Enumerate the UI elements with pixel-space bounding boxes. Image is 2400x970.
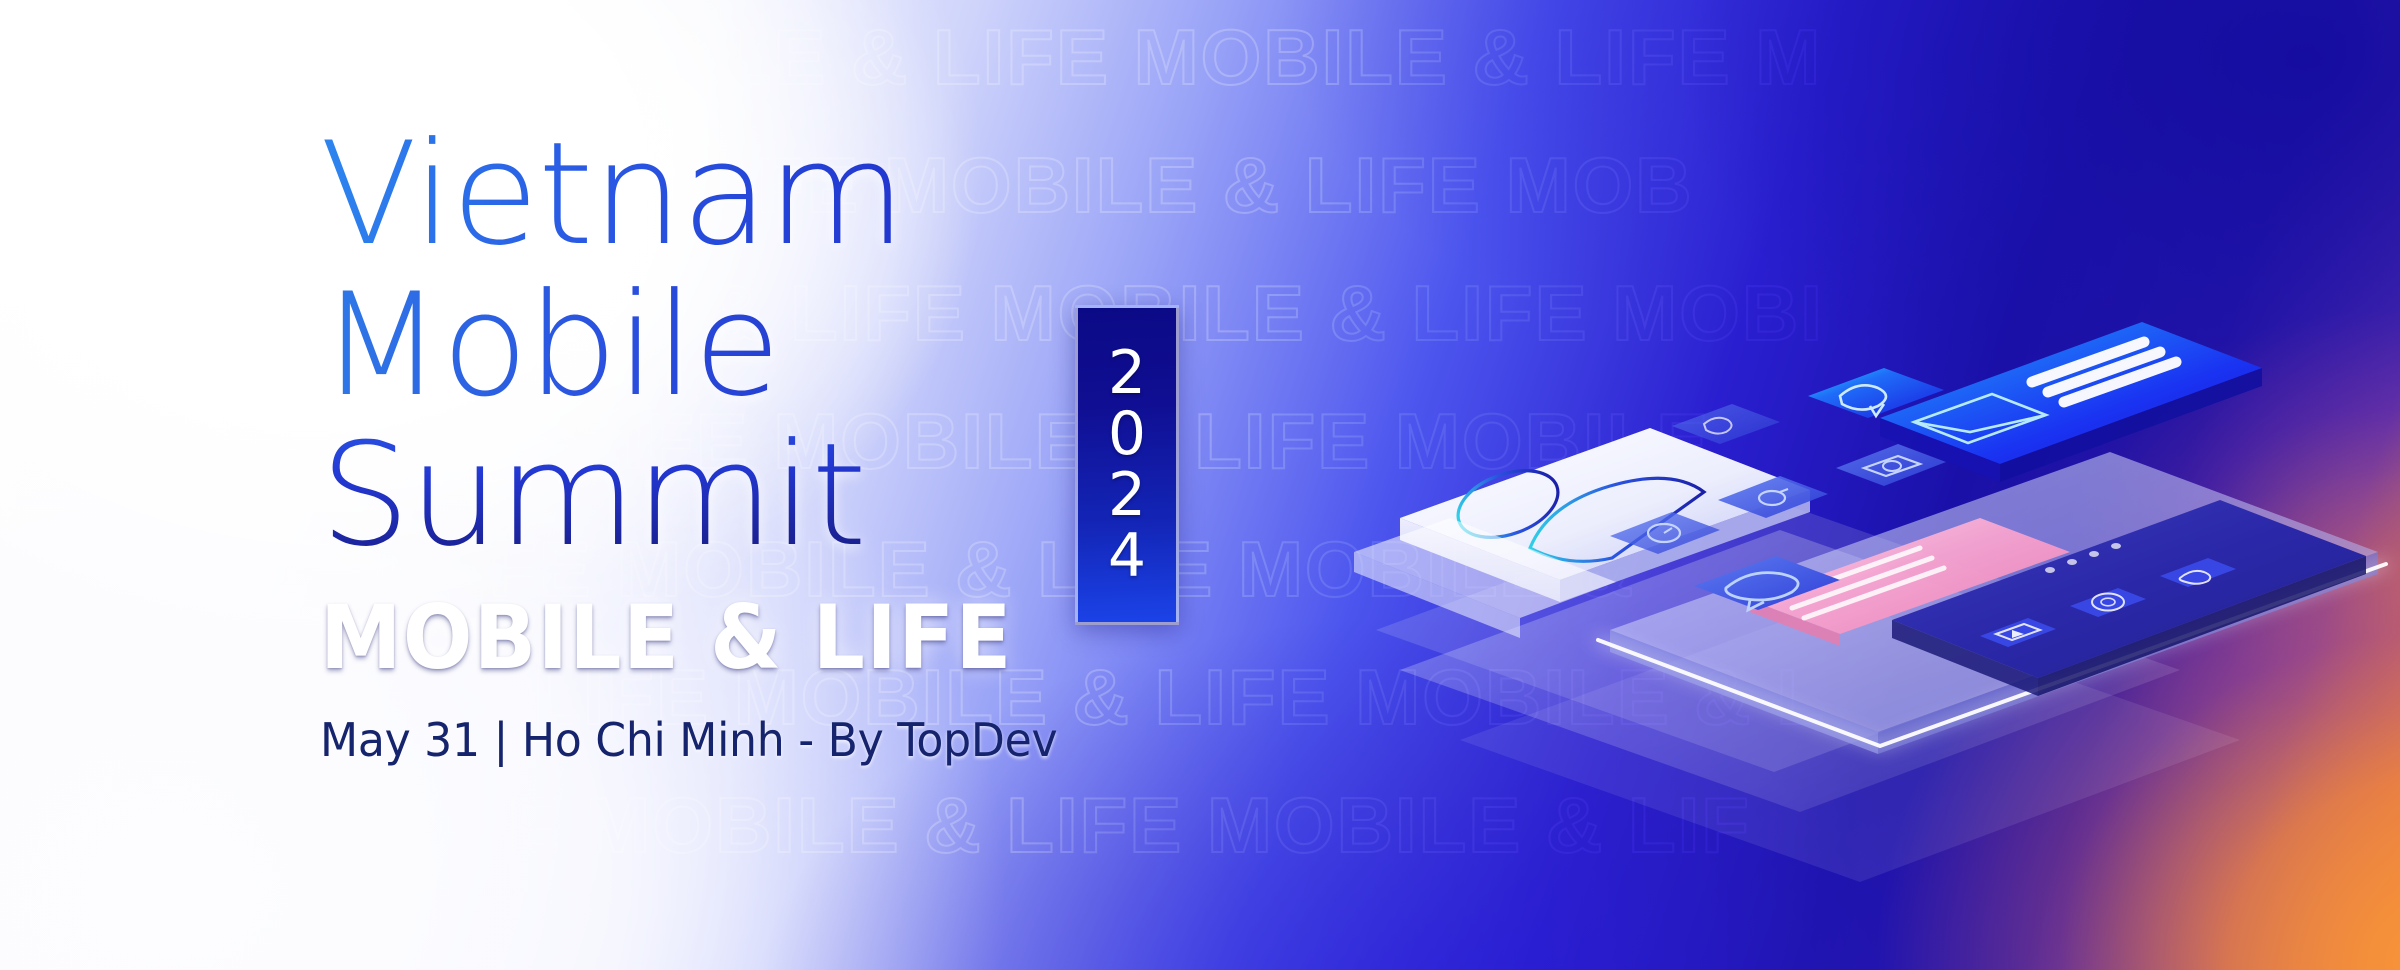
year-digit-2: 0: [1108, 405, 1146, 464]
event-meta-date-location: May 31 | Ho Chi Minh - By TopDev: [320, 713, 1280, 767]
year-digit-3: 2: [1108, 466, 1146, 525]
year-digit-4: 4: [1108, 527, 1146, 586]
year-digit-1: 2: [1108, 344, 1146, 403]
isometric-phone-illustration: [1280, 200, 2400, 840]
event-banner: MOBILE & LIFE MOBILE & LIFE MOBILE & LIF…: [0, 0, 2400, 970]
tile-location-heart: [1672, 404, 1780, 444]
mail-card: [1880, 322, 2262, 482]
year-badge: 2 0 2 4: [1075, 305, 1179, 625]
title-line-vietnam: Vietnam: [320, 120, 1320, 271]
